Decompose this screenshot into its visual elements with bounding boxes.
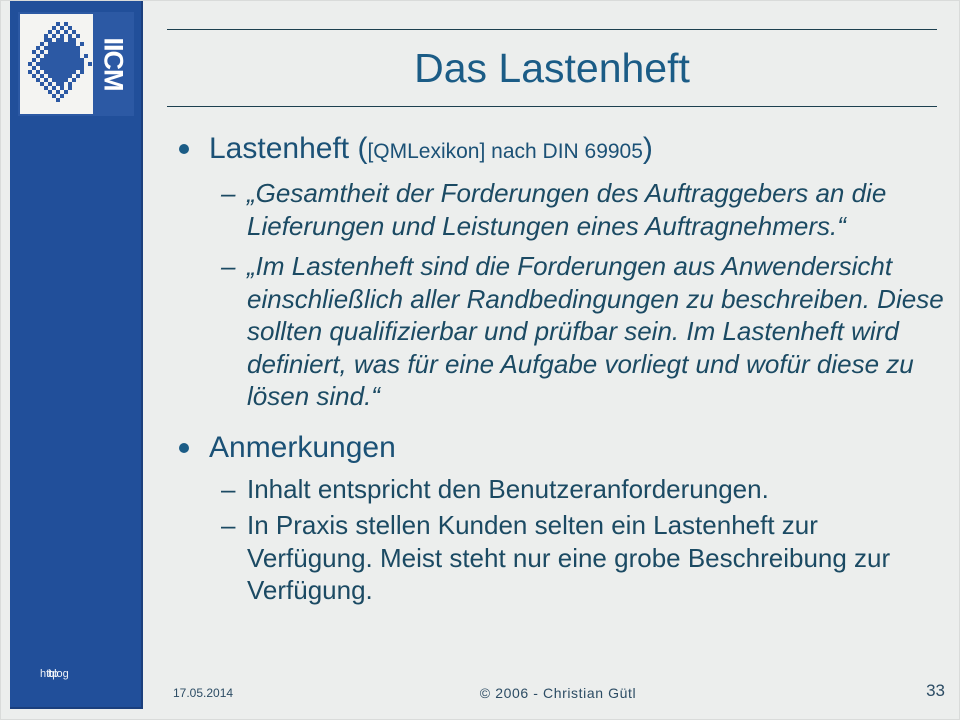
- bullet-dot-icon: [179, 443, 189, 453]
- page-title: Das Lastenheft: [167, 35, 937, 101]
- sub-bullet-definition-2-text: „Im Lastenheft sind die Forderungen aus …: [247, 251, 944, 411]
- iicm-wordmark-text: IICM: [99, 38, 126, 91]
- title-rule-top: [167, 29, 937, 30]
- iicm-pixel-star-icon: [20, 14, 93, 114]
- sidebar-caption: http blog: [40, 666, 126, 682]
- pixel-star-svg: [20, 14, 93, 114]
- dash-glyph-icon: –: [221, 250, 235, 283]
- bullet-anmerkungen-main: Anmerkungen: [209, 431, 396, 464]
- bullet-dot-icon: [179, 144, 189, 154]
- bullet-lastenheft-main: Lastenheft (: [209, 132, 367, 165]
- title-rule-bottom: [167, 106, 937, 107]
- sub-bullet-note-1-text: Inhalt entspricht den Benutzeranforderun…: [247, 474, 769, 504]
- iicm-logo: IICM: [18, 12, 134, 116]
- slide-content: Lastenheft ([QMLexikon] nach DIN 69905) …: [167, 129, 949, 607]
- title-area: Das Lastenheft: [167, 29, 937, 109]
- iicm-wordmark: IICM: [93, 14, 132, 114]
- dash-glyph-icon: –: [221, 473, 235, 506]
- sub-bullet-definition-2: –„Im Lastenheft sind die Forderungen aus…: [167, 250, 949, 413]
- sub-bullet-note-2: –In Praxis stellen Kunden selten ein Las…: [167, 509, 949, 607]
- dash-glyph-icon: –: [221, 509, 235, 542]
- sub-bullet-note-2-text: In Praxis stellen Kunden selten ein Last…: [247, 510, 890, 605]
- bullet-lastenheft: Lastenheft ([QMLexikon] nach DIN 69905): [167, 129, 949, 171]
- bullet-lastenheft-tail: ): [643, 132, 653, 165]
- dash-glyph-icon: –: [221, 177, 235, 210]
- bullet-anmerkungen: Anmerkungen: [167, 428, 949, 467]
- footer-copyright: © 2006 - Christian Gütl: [167, 683, 949, 703]
- sub-bullet-definition-1: –„Gesamtheit der Forderungen des Auftrag…: [167, 177, 949, 242]
- sub-bullet-note-1: –Inhalt entspricht den Benutzeranforderu…: [167, 473, 949, 506]
- presentation-slide: http blog: [0, 0, 960, 720]
- footer-page-number: 33: [926, 681, 945, 701]
- slide-footer: 17.05.2014 © 2006 - Christian Gütl 33: [167, 683, 949, 703]
- bullet-lastenheft-source: [QMLexikon] nach DIN 69905: [367, 140, 642, 163]
- sidebar-caption-line-b: blog: [48, 666, 69, 682]
- sub-bullet-definition-1-text: „Gesamtheit der Forderungen des Auftragg…: [247, 178, 886, 241]
